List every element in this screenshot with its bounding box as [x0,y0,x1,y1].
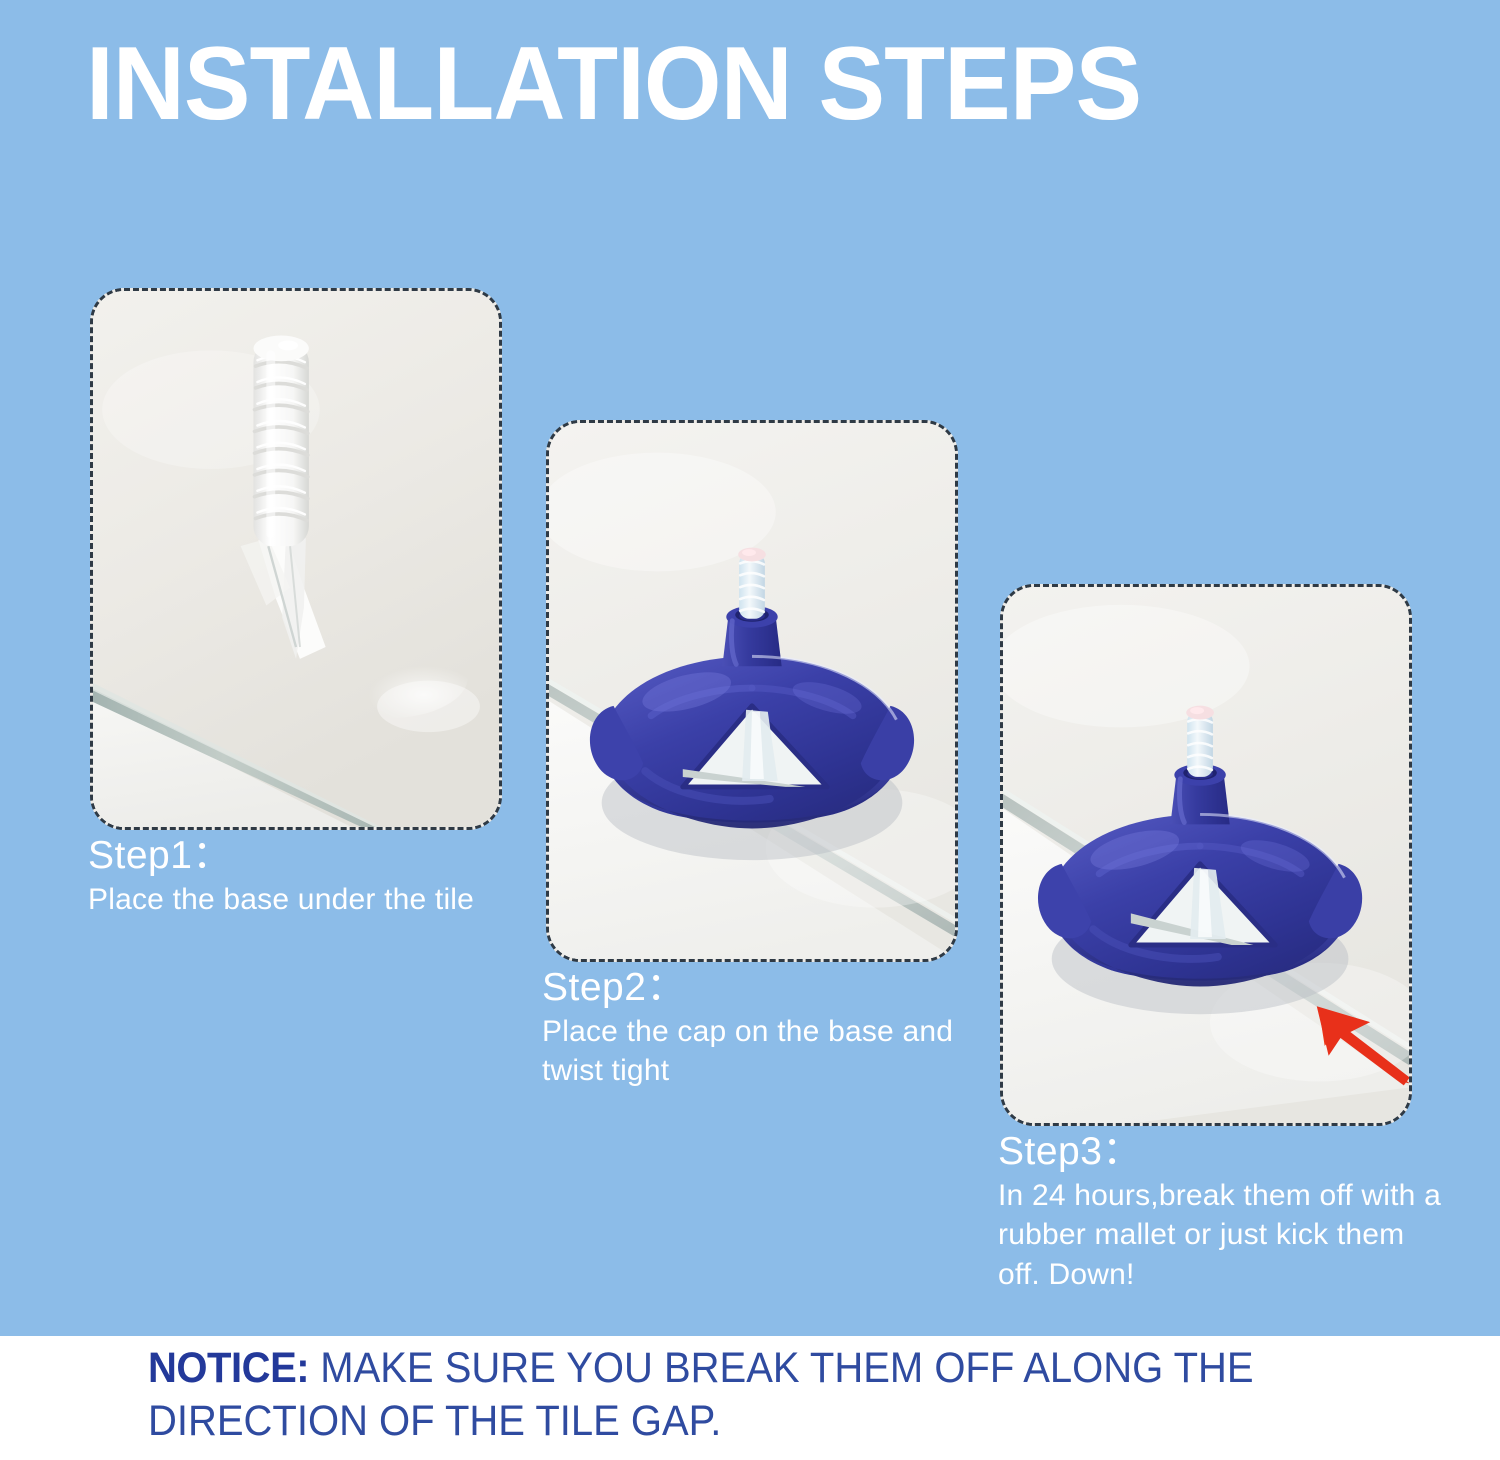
step-2-label: Step2： [542,966,953,1010]
infographic-page: INSTALLATION STEPS [0,0,1500,1460]
step2-photo-panel [546,420,958,962]
step-3-caption: Step3： In 24 hours,break them off with a… [998,1130,1441,1294]
notice-label: NOTICE: [148,1344,309,1392]
step1-photo [93,291,499,827]
step2-photo [549,423,955,959]
step-1-label: Step1： [88,834,474,878]
step-3-label: Step3： [998,1130,1441,1174]
step1-photo-panel [90,288,502,830]
step-1-caption: Step1： Place the base under the tile [88,834,474,919]
step3-photo-panel [1000,584,1412,1126]
notice-bar: NOTICE: MAKE SURE YOU BREAK THEM OFF ALO… [0,1336,1500,1460]
step-3-body: In 24 hours,break them off with a rubber… [998,1176,1441,1295]
notice-body: MAKE SURE YOU BREAK THEM OFF ALONG THE D… [148,1344,1254,1445]
step-2-caption: Step2： Place the cap on the base and twi… [542,966,953,1091]
step3-photo [1003,587,1409,1123]
step-2-body: Place the cap on the base and twist tigh… [542,1012,953,1091]
page-title: INSTALLATION STEPS [86,28,1141,140]
notice-text: NOTICE: MAKE SURE YOU BREAK THEM OFF ALO… [148,1342,1376,1448]
step-1-body: Place the base under the tile [88,880,474,920]
